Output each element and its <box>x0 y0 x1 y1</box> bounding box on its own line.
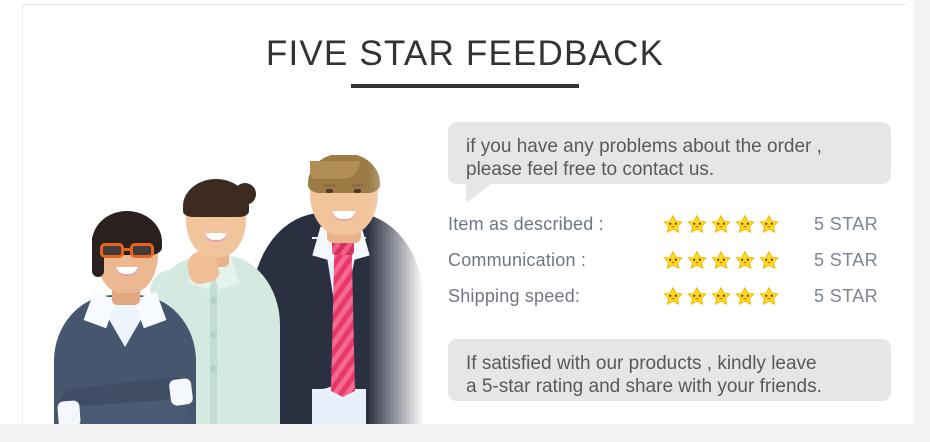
center-brow-right <box>223 208 235 211</box>
star-rating-shipping-speed <box>663 286 793 306</box>
man-brow-right <box>352 184 364 187</box>
star-icon <box>687 286 707 306</box>
support-message-bubble-tail <box>466 184 491 203</box>
left-cuff-far <box>168 378 193 406</box>
center-shirt-button <box>210 297 217 304</box>
star-icon <box>759 286 779 306</box>
man-brow-left <box>324 184 336 187</box>
rating-value: 5 STAR <box>793 250 878 271</box>
leave-rating-bubble: If satisfied with our products , kindly … <box>448 339 891 401</box>
rating-label: Communication : <box>448 250 663 271</box>
support-message-bubble: if you have any problems about the order… <box>448 122 891 184</box>
star-icon <box>663 214 683 234</box>
team-photo <box>38 155 448 424</box>
ratings-list: Item as described : 5 STAR Communication… <box>448 206 898 314</box>
left-cuff-near <box>57 400 81 424</box>
star-icon <box>687 250 707 270</box>
rating-row: Item as described : 5 STAR <box>448 206 898 242</box>
rating-row: Communication : 5 STAR <box>448 242 898 278</box>
star-icon <box>759 214 779 234</box>
star-icon <box>663 286 683 306</box>
center-eye-left <box>199 213 206 217</box>
center-eye-right <box>225 213 232 217</box>
eyeglasses-bridge <box>123 248 131 251</box>
rating-label: Shipping speed: <box>448 286 663 307</box>
frame-gutter-right <box>914 0 930 442</box>
banner-card: FIVE STAR FEEDBACK <box>23 5 907 424</box>
star-rating-communication <box>663 250 793 270</box>
star-icon <box>759 250 779 270</box>
center-shirt-button <box>210 365 217 372</box>
center-hair-bun <box>234 183 256 205</box>
rating-row: Shipping speed: 5 STAR <box>448 278 898 314</box>
eyeglasses-lens-right-icon <box>130 243 154 258</box>
photo-fade-mask <box>368 155 448 424</box>
man-striped-tie <box>331 247 355 397</box>
rating-value: 5 STAR <box>793 286 878 307</box>
rating-label: Item as described : <box>448 214 663 235</box>
eyeglasses-lens-left-icon <box>100 243 124 258</box>
feedback-banner: FIVE STAR FEEDBACK <box>0 0 930 442</box>
center-shirt-placket <box>210 267 217 424</box>
center-brow-left <box>197 208 209 211</box>
star-icon <box>663 250 683 270</box>
center-shirt-button <box>210 331 217 338</box>
frame-gutter-bottom <box>0 424 930 442</box>
star-icon <box>735 286 755 306</box>
title-underline-rule <box>351 84 579 88</box>
rating-value: 5 STAR <box>793 214 878 235</box>
star-icon <box>711 250 731 270</box>
star-icon <box>711 214 731 234</box>
star-rating-item-as-described <box>663 214 793 234</box>
star-icon <box>735 214 755 234</box>
page-title: FIVE STAR FEEDBACK <box>23 33 907 75</box>
star-icon <box>687 214 707 234</box>
star-icon <box>711 286 731 306</box>
title-block: FIVE STAR FEEDBACK <box>23 33 907 88</box>
man-eye-right <box>354 189 361 193</box>
star-icon <box>735 250 755 270</box>
man-eye-left <box>326 189 333 193</box>
